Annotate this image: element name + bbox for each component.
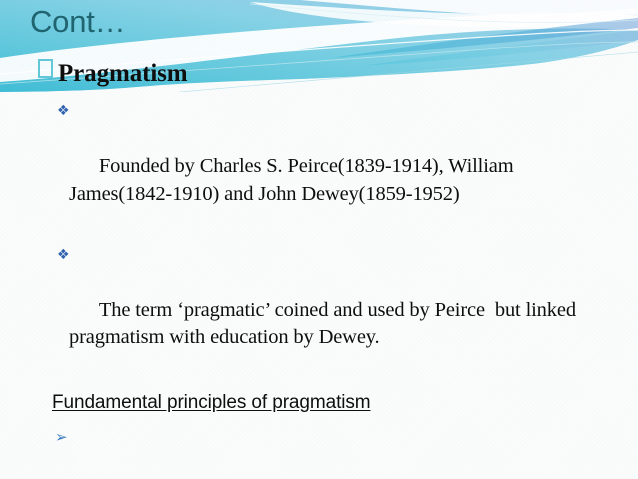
bullet-item: ❖ The term ‘pragmatic’ coined and used b… [57,242,638,380]
spacer [0,90,638,98]
bullet-text: The term ‘pragmatic’ coined and used by … [69,299,581,349]
slide-title: Cont… [30,2,125,42]
presentation-slide: Cont… Pragmatism ❖ Founded by Charles S.… [0,0,638,479]
section-heading: Fundamental principles of pragmatism [52,388,638,418]
content-heading-pragmatism: Pragmatism [0,58,638,90]
content-heading-label: Pragmatism [58,60,188,87]
bullet-item: ➢ No ultimate value, formation of value … [55,424,638,479]
spacer [0,379,638,388]
diamond-cluster-bullet-icon: ❖ [57,98,69,126]
bullet-item: ❖ Founded by Charles S. Peirce(1839-1914… [57,98,638,236]
bullet-text: Founded by Charles S. Peirce(1839-1914),… [69,155,518,205]
diamond-cluster-bullet-icon: ❖ [57,242,69,270]
section-heading-label: Fundamental principles of pragmatism [52,392,371,413]
arrowhead-bullet-icon: ➢ [55,424,67,452]
slide-body: Pragmatism ❖ Founded by Charles S. Peirc… [0,58,638,479]
hollow-box-bullet-icon [38,59,53,78]
